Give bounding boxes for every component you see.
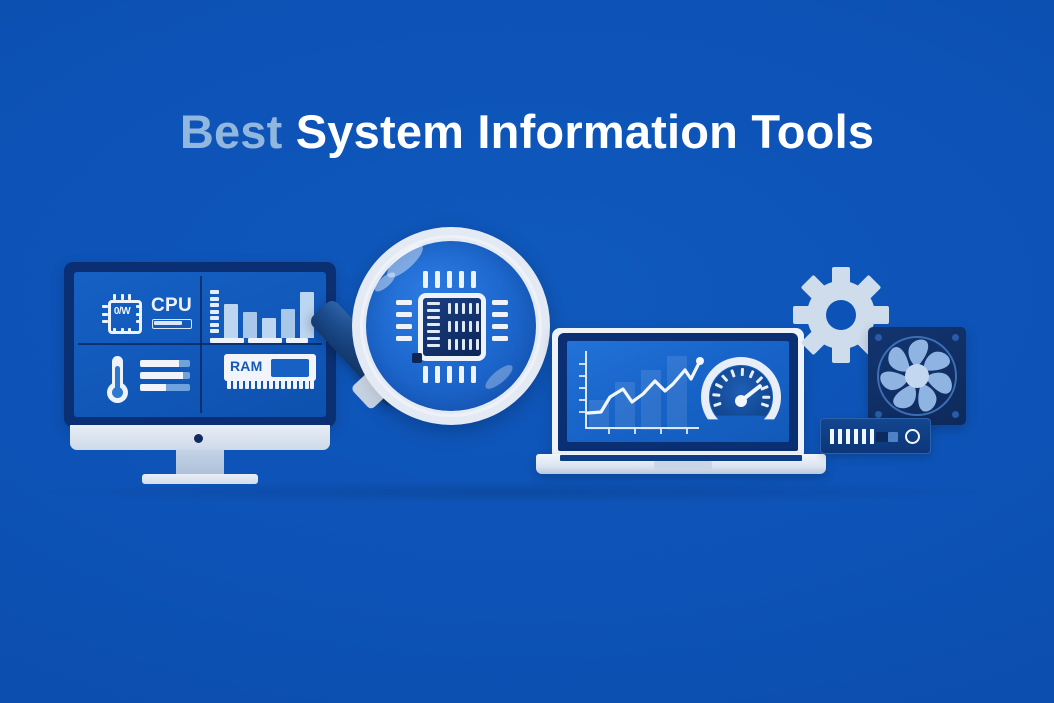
temperature-bar-2	[140, 372, 190, 379]
ram-module-icon: RAM	[224, 354, 316, 390]
screen-divider-horizontal	[78, 343, 322, 345]
bar-chart-bars	[224, 286, 320, 338]
thermometer-icon	[104, 356, 130, 406]
laptop-screen	[567, 341, 789, 442]
title-highlight-word: Best	[180, 105, 283, 158]
cpu-chip-text: 0/W	[111, 306, 133, 317]
laptop-computer	[536, 328, 826, 488]
desktop-monitor: 0/W CPU	[64, 262, 336, 487]
monitor-indicator-dot	[194, 434, 203, 443]
page-title: Best System Information Tools	[0, 104, 1054, 159]
bar-chart-x-axis	[210, 338, 318, 343]
temperature-bar-3	[140, 384, 190, 391]
bar-chart-y-axis	[210, 290, 219, 338]
ram-label: RAM	[230, 358, 268, 374]
cpu-label: CPU	[151, 295, 192, 317]
fan-blades	[868, 327, 966, 425]
cpu-chip-icon: 0/W	[102, 294, 142, 334]
cpu-chip-icon	[396, 271, 508, 383]
server-device-bar	[820, 418, 931, 454]
laptop-trackpad	[654, 461, 712, 470]
speedometer-icon	[701, 357, 781, 431]
drive-slot-light	[888, 432, 898, 442]
illustration-canvas: Best System Information Tools 0/W	[0, 0, 1054, 703]
ram-pins	[227, 380, 314, 389]
monitor-stand-base	[142, 474, 258, 484]
monitor-screen: 0/W CPU	[74, 272, 326, 417]
power-button-icon[interactable]	[905, 429, 920, 444]
cpu-usage-bar-fill	[154, 321, 182, 325]
title-rest-text: System Information Tools	[282, 105, 874, 158]
monitor-stand-neck	[176, 450, 224, 475]
temperature-bar-1	[140, 360, 190, 367]
cooling-fan-icon	[868, 327, 966, 425]
